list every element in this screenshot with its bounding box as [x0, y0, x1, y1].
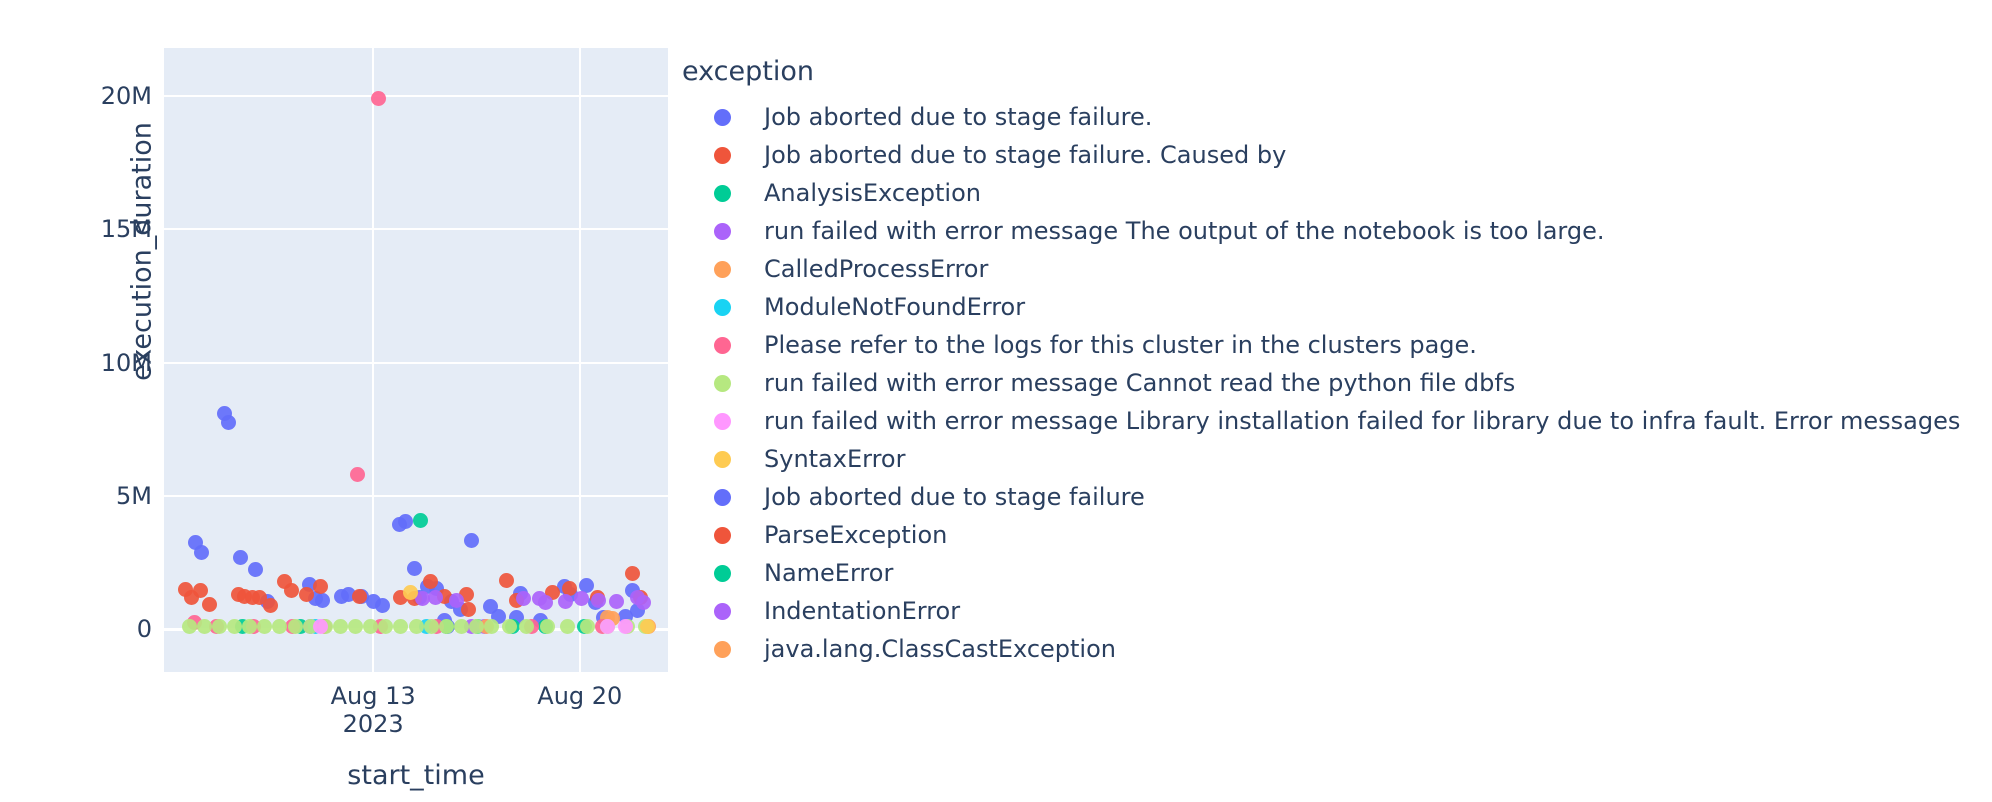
data-points-layer [164, 48, 668, 672]
legend-item[interactable]: IndentationError [682, 592, 1960, 630]
legend-item[interactable]: Job aborted due to stage failure. [682, 98, 1960, 136]
data-point[interactable] [538, 595, 553, 610]
y-axis-tick-labels: 05M10M15M20M [0, 48, 152, 672]
data-point[interactable] [272, 619, 287, 634]
legend-marker-icon [714, 375, 731, 392]
legend-marker-icon [714, 489, 731, 506]
data-point[interactable] [591, 593, 606, 608]
data-point[interactable] [393, 619, 408, 634]
legend-marker-icon [714, 565, 731, 582]
scatter-plot-figure: execution_duration 05M10M15M20M start_ti… [0, 0, 1992, 802]
data-point[interactable] [288, 619, 303, 634]
legend-marker-icon [714, 413, 731, 430]
legend-marker-icon [714, 223, 731, 240]
legend-item-label: Please refer to the logs for this cluste… [764, 331, 1477, 359]
data-point[interactable] [193, 583, 208, 598]
legend[interactable]: exception Job aborted due to stage failu… [682, 58, 1960, 668]
legend-item[interactable]: ModuleNotFoundError [682, 288, 1960, 326]
legend-item-label: run failed with error message The output… [764, 217, 1605, 245]
y-tick-label: 5M [116, 482, 152, 510]
data-point[interactable] [428, 590, 443, 605]
data-point[interactable] [600, 619, 615, 634]
legend-item[interactable]: SyntaxError [682, 440, 1960, 478]
data-point[interactable] [313, 579, 328, 594]
legend-item-label: AnalysisException [764, 179, 981, 207]
data-point[interactable] [315, 593, 330, 608]
data-point[interactable] [202, 597, 217, 612]
data-point[interactable] [221, 415, 236, 430]
data-point[interactable] [423, 574, 438, 589]
x-axis-title: start_time [164, 760, 668, 791]
data-point[interactable] [409, 619, 424, 634]
legend-items[interactable]: Job aborted due to stage failure.Job abo… [682, 98, 1960, 668]
legend-item-label: Job aborted due to stage failure [764, 483, 1145, 511]
data-point[interactable] [413, 513, 428, 528]
data-point[interactable] [625, 566, 640, 581]
data-point[interactable] [299, 587, 314, 602]
data-point[interactable] [609, 594, 624, 609]
data-point[interactable] [398, 514, 413, 529]
legend-item-label: NameError [764, 559, 893, 587]
x-tick-label: Aug 20 [537, 682, 622, 710]
legend-title: exception [682, 58, 1960, 85]
y-tick-label: 15M [101, 215, 152, 243]
legend-marker-icon [714, 603, 731, 620]
data-point[interactable] [618, 619, 633, 634]
x-tick-label-date: Aug 13 [331, 682, 416, 710]
data-point[interactable] [499, 573, 514, 588]
data-point[interactable] [558, 594, 573, 609]
data-point[interactable] [449, 593, 464, 608]
data-point[interactable] [233, 550, 248, 565]
legend-item[interactable]: run failed with error message Library in… [682, 402, 1960, 440]
legend-marker-icon [714, 641, 731, 658]
legend-item[interactable]: Job aborted due to stage failure. Caused… [682, 136, 1960, 174]
x-tick-label-date: Aug 20 [537, 682, 622, 710]
data-point[interactable] [378, 619, 393, 634]
data-point[interactable] [574, 591, 589, 606]
data-point[interactable] [333, 619, 348, 634]
data-point[interactable] [403, 585, 418, 600]
legend-item[interactable]: CalledProcessError [682, 250, 1960, 288]
legend-marker-icon [714, 451, 731, 468]
data-point[interactable] [484, 619, 499, 634]
data-point[interactable] [263, 598, 278, 613]
data-point[interactable] [540, 619, 555, 634]
legend-item-label: run failed with error message Cannot rea… [764, 369, 1515, 397]
legend-marker-icon [714, 527, 731, 544]
legend-item[interactable]: ParseException [682, 516, 1960, 554]
legend-marker-icon [714, 261, 731, 278]
data-point[interactable] [371, 91, 386, 106]
y-tick-label: 0 [137, 615, 152, 643]
legend-item[interactable]: Please refer to the logs for this cluste… [682, 326, 1960, 364]
legend-item-label: IndentationError [764, 597, 960, 625]
data-point[interactable] [197, 619, 212, 634]
legend-item-label: Job aborted due to stage failure. [764, 103, 1152, 131]
legend-item[interactable]: java.lang.ClassCastException [682, 630, 1960, 668]
legend-item[interactable]: run failed with error message Cannot rea… [682, 364, 1960, 402]
data-point[interactable] [636, 595, 651, 610]
data-point[interactable] [352, 589, 367, 604]
data-point[interactable] [182, 619, 197, 634]
data-point[interactable] [194, 545, 209, 560]
data-point[interactable] [257, 619, 272, 634]
legend-item-label: ParseException [764, 521, 947, 549]
data-point[interactable] [424, 619, 439, 634]
data-point[interactable] [248, 562, 263, 577]
data-point[interactable] [516, 591, 531, 606]
data-point[interactable] [375, 598, 390, 613]
legend-item-label: ModuleNotFoundError [764, 293, 1025, 321]
data-point[interactable] [348, 619, 363, 634]
data-point[interactable] [212, 619, 227, 634]
x-tick-label: Aug 132023 [331, 682, 416, 739]
data-point[interactable] [461, 602, 476, 617]
legend-item-label: run failed with error message Library in… [764, 407, 1960, 435]
data-point[interactable] [313, 619, 328, 634]
data-point[interactable] [580, 619, 595, 634]
data-point[interactable] [560, 619, 575, 634]
legend-item-label: CalledProcessError [764, 255, 988, 283]
data-point[interactable] [350, 467, 365, 482]
data-point[interactable] [284, 583, 299, 598]
x-tick-label-year: 2023 [331, 710, 416, 738]
plot-area[interactable] [164, 48, 668, 672]
legend-marker-icon [714, 299, 731, 316]
legend-item[interactable]: NameError [682, 554, 1960, 592]
y-tick-label: 20M [101, 82, 152, 110]
legend-marker-icon [714, 147, 731, 164]
legend-item[interactable]: Job aborted due to stage failure [682, 478, 1960, 516]
legend-item-label: java.lang.ClassCastException [764, 635, 1116, 663]
data-point[interactable] [464, 533, 479, 548]
legend-item[interactable]: AnalysisException [682, 174, 1960, 212]
legend-marker-icon [714, 185, 731, 202]
legend-marker-icon [714, 109, 731, 126]
legend-marker-icon [714, 337, 731, 354]
legend-item[interactable]: run failed with error message The output… [682, 212, 1960, 250]
y-tick-label: 10M [101, 349, 152, 377]
legend-item-label: Job aborted due to stage failure. Caused… [764, 141, 1286, 169]
legend-item-label: SyntaxError [764, 445, 905, 473]
data-point[interactable] [407, 561, 422, 576]
